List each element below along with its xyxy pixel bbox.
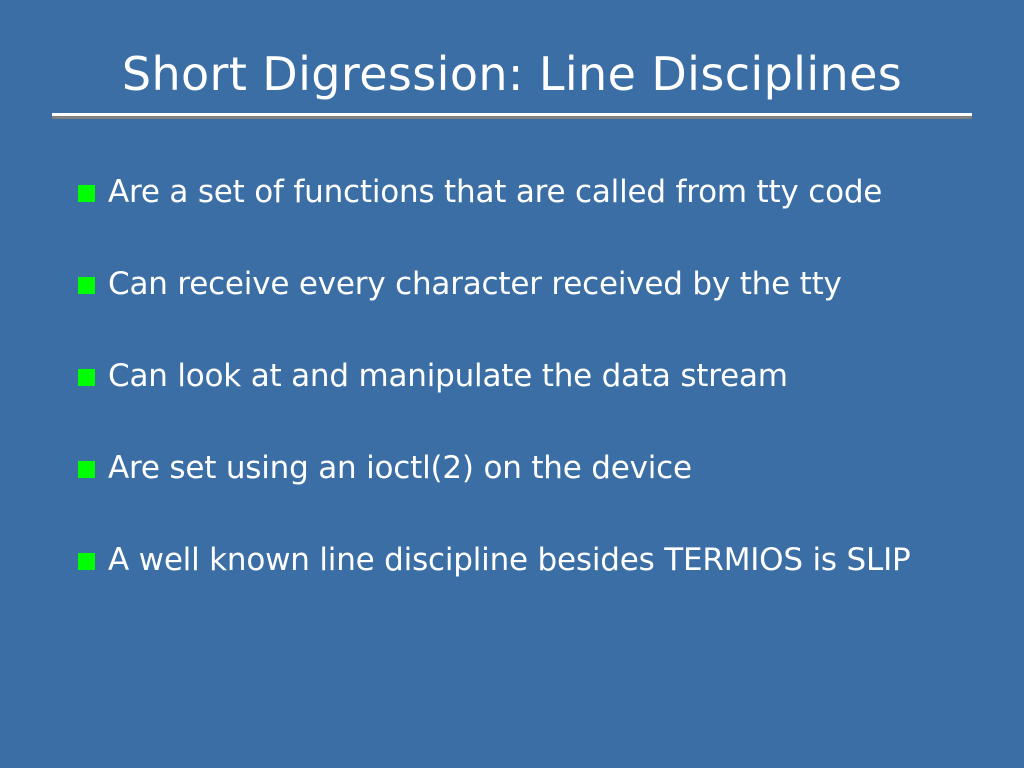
list-item-label: Are a set of functions that are called f… bbox=[108, 172, 998, 212]
slide-title-block: Short Digression: Line Disciplines bbox=[0, 46, 1024, 102]
presentation-slide: Short Digression: Line Disciplines Are a… bbox=[0, 0, 1024, 768]
list-item-label: Are set using an ioctl(2) on the device bbox=[108, 448, 998, 488]
square-bullet-icon bbox=[78, 369, 95, 386]
page-title: Short Digression: Line Disciplines bbox=[0, 46, 1024, 102]
list-item: Are set using an ioctl(2) on the device bbox=[78, 448, 998, 540]
list-item-label: A well known line discipline besides TER… bbox=[108, 540, 998, 580]
list-item: A well known line discipline besides TER… bbox=[78, 540, 998, 632]
square-bullet-icon bbox=[78, 553, 95, 570]
list-item: Are a set of functions that are called f… bbox=[78, 172, 998, 264]
title-divider-rule bbox=[52, 113, 972, 116]
list-item-label: Can look at and manipulate the data stre… bbox=[108, 356, 998, 396]
list-item: Can receive every character received by … bbox=[78, 264, 998, 356]
list-item: Can look at and manipulate the data stre… bbox=[78, 356, 998, 448]
square-bullet-icon bbox=[78, 277, 95, 294]
list-item-label: Can receive every character received by … bbox=[108, 264, 998, 304]
square-bullet-icon bbox=[78, 461, 95, 478]
square-bullet-icon bbox=[78, 185, 95, 202]
bullet-list: Are a set of functions that are called f… bbox=[78, 172, 998, 632]
